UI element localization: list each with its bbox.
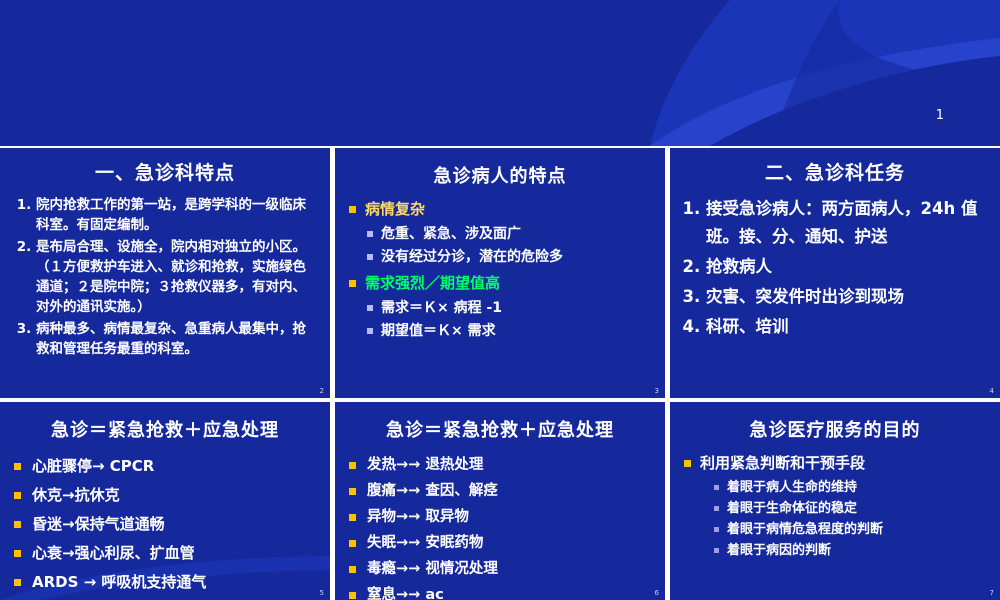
slide-deck: 1 一、急诊科特点 院内抢救工作的第一站，是跨学科的一级临床科室。有固定编制。 … [0, 0, 1000, 600]
slide-emergency-dept-tasks: 二、急诊科任务 接受急诊病人：两方面病人，24h 值班。接、分、通知、护送 抢救… [670, 148, 1000, 398]
slide-number: 7 [990, 589, 994, 597]
rescue-list: 心脏骤停→ CPCR 休克→抗休克 昏迷→保持气道通畅 心衰→强心利尿、扩血管 … [14, 455, 318, 593]
list-item: 科研、培训 [706, 313, 988, 341]
slide-emergency-equals-rescue-b: 急诊＝紧急抢救＋应急处理 发热→→ 退热处理 腹痛→→ 查因、解痉 异物→→ 取… [335, 402, 665, 600]
slide-title: 急诊医疗服务的目的 [670, 402, 1000, 442]
slide-body: 利用紧急判断和干预手段 着眼于病人生命的维持 着眼于生命体征的稳定 着眼于病情危… [670, 442, 1000, 561]
purpose-lead-list: 利用紧急判断和干预手段 [684, 452, 988, 474]
list-item: 抢救病人 [706, 253, 988, 281]
list-item: 着眼于病人生命的维持 [714, 478, 988, 498]
list-item: 休克→抗休克 [14, 484, 318, 506]
characteristics-list-2: 需求强烈／期望值高 [349, 272, 653, 294]
slide-body: 心脏骤停→ CPCR 休克→抗休克 昏迷→保持气道通畅 心衰→强心利尿、扩血管 … [0, 442, 330, 593]
list-item: 需求＝Ｋ× 病程 -1 [367, 298, 653, 319]
feature-list: 院内抢救工作的第一站，是跨学科的一级临床科室。有固定编制。 是布局合理、设施全，… [14, 195, 318, 359]
list-item: 接受急诊病人：两方面病人，24h 值班。接、分、通知、护送 [706, 195, 988, 251]
list-item: 没有经过分诊，潜在的危险多 [367, 247, 653, 268]
slide-number: 2 [320, 387, 324, 395]
slide-body: 接受急诊病人：两方面病人，24h 值班。接、分、通知、护送 抢救病人 灾害、突发… [670, 185, 1000, 341]
list-item: 病种最多、病情最复杂、急重病人最集中，抢救和管理任务最重的科室。 [36, 319, 318, 359]
handling-list: 发热→→ 退热处理 腹痛→→ 查因、解痉 异物→→ 取异物 失眠→→ 安眠药物 … [349, 454, 653, 600]
list-item: 心衰→强心利尿、扩血管 [14, 542, 318, 564]
characteristics-list: 病情复杂 [349, 198, 653, 220]
slide-row-2: 急诊＝紧急抢救＋应急处理 心脏骤停→ CPCR 休克→抗休克 昏迷→保持气道通畅… [0, 402, 1000, 600]
slide-body: 发热→→ 退热处理 腹痛→→ 查因、解痉 异物→→ 取异物 失眠→→ 安眠药物 … [335, 442, 665, 600]
banner-swoosh-decoration [540, 0, 1000, 146]
slide-title-banner: 1 [0, 0, 1000, 146]
group-label-complex: 病情复杂 [349, 198, 653, 220]
slide-service-purpose: 急诊医疗服务的目的 利用紧急判断和干预手段 着眼于病人生命的维持 着眼于生命体征… [670, 402, 1000, 600]
slide-emergency-equals-rescue-a: 急诊＝紧急抢救＋应急处理 心脏骤停→ CPCR 休克→抗休克 昏迷→保持气道通畅… [0, 402, 330, 600]
slide-title: 急诊＝紧急抢救＋应急处理 [335, 402, 665, 442]
list-item: 危重、紧急、涉及面广 [367, 224, 653, 245]
complex-sublist: 危重、紧急、涉及面广 没有经过分诊，潜在的危险多 [349, 224, 653, 268]
list-item: 异物→→ 取异物 [349, 506, 653, 528]
list-item: 期望值＝Ｋ× 需求 [367, 321, 653, 342]
slide-title: 一、急诊科特点 [0, 148, 330, 185]
list-item: 发热→→ 退热处理 [349, 454, 653, 476]
slide-body: 病情复杂 危重、紧急、涉及面广 没有经过分诊，潜在的危险多 需求强烈／期望值高 … [335, 188, 665, 342]
slide-emergency-dept-features: 一、急诊科特点 院内抢救工作的第一站，是跨学科的一级临床科室。有固定编制。 是布… [0, 148, 330, 398]
list-item: 着眼于生命体征的稳定 [714, 499, 988, 519]
slide-title: 急诊＝紧急抢救＋应急处理 [0, 402, 330, 442]
slide-title: 急诊病人的特点 [335, 148, 665, 188]
list-item: ARDS → 呼吸机支持通气 [14, 571, 318, 593]
purpose-sublist: 着眼于病人生命的维持 着眼于生命体征的稳定 着眼于病情危急程度的判断 着眼于病因… [684, 478, 988, 561]
list-item: 昏迷→保持气道通畅 [14, 513, 318, 535]
task-list: 接受急诊病人：两方面病人，24h 值班。接、分、通知、护送 抢救病人 灾害、突发… [684, 195, 988, 341]
list-item: 腹痛→→ 查因、解痉 [349, 480, 653, 502]
group-label-demand: 需求强烈／期望值高 [349, 272, 653, 294]
list-item: 心脏骤停→ CPCR [14, 455, 318, 477]
slide-patient-characteristics: 急诊病人的特点 病情复杂 危重、紧急、涉及面广 没有经过分诊，潜在的危险多 需求… [335, 148, 665, 398]
slide-row-1: 一、急诊科特点 院内抢救工作的第一站，是跨学科的一级临床科室。有固定编制。 是布… [0, 148, 1000, 398]
slide-number: 4 [990, 387, 994, 395]
purpose-lead: 利用紧急判断和干预手段 [684, 452, 988, 474]
list-item: 是布局合理、设施全，院内相对独立的小区。（１方便救护车进入、就诊和抢救，实施绿色… [36, 237, 318, 317]
demand-sublist: 需求＝Ｋ× 病程 -1 期望值＝Ｋ× 需求 [349, 298, 653, 342]
list-item: 毒瘾→→ 视情况处理 [349, 558, 653, 580]
list-item: 失眠→→ 安眠药物 [349, 532, 653, 554]
slide-title: 二、急诊科任务 [670, 148, 1000, 185]
list-item: 窒息→→ ас [349, 584, 653, 600]
slide-body: 院内抢救工作的第一站，是跨学科的一级临床科室。有固定编制。 是布局合理、设施全，… [0, 185, 330, 359]
list-item: 着眼于病情危急程度的判断 [714, 520, 988, 540]
list-item: 院内抢救工作的第一站，是跨学科的一级临床科室。有固定编制。 [36, 195, 318, 235]
slide-number: 3 [655, 387, 659, 395]
list-item: 着眼于病因的判断 [714, 541, 988, 561]
banner-page-number: 1 [936, 108, 944, 123]
list-item: 灾害、突发件时出诊到现场 [706, 283, 988, 311]
